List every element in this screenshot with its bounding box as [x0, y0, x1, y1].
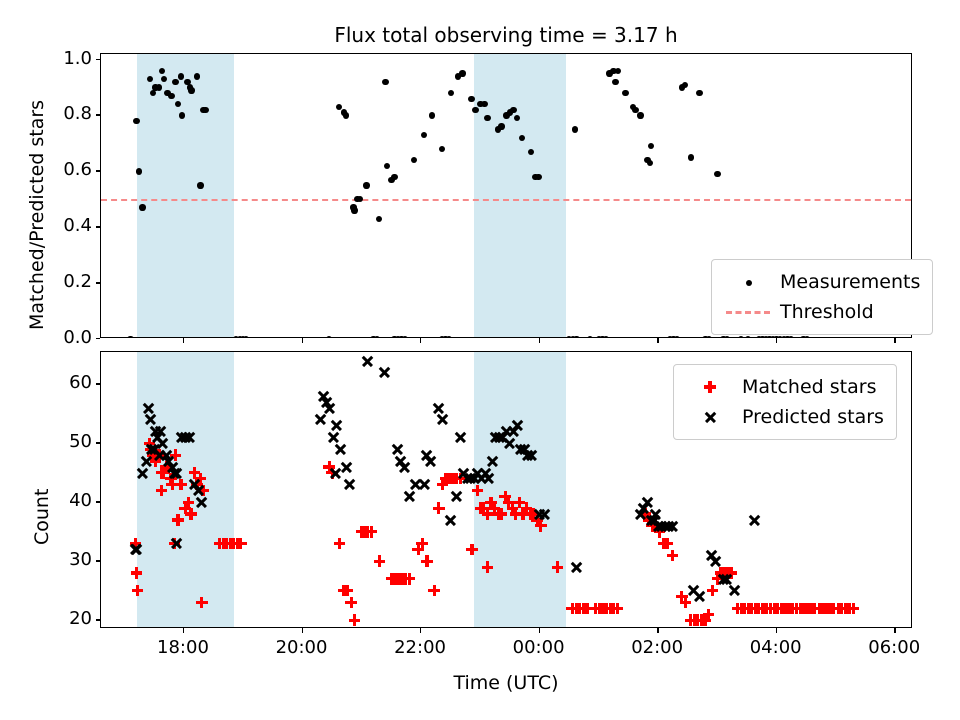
- measurement-point: [738, 336, 744, 338]
- legend-key-plus-marker: [684, 372, 736, 402]
- measurement-point: [696, 90, 702, 96]
- measurement-point: [172, 79, 178, 85]
- y-tick-mark: [96, 560, 101, 561]
- threshold-line: [101, 199, 911, 201]
- measurement-point: [202, 107, 208, 113]
- bottom-panel-legend: Matched starsPredicted stars: [673, 364, 897, 440]
- y-tick-label: 0.0: [36, 327, 92, 348]
- measurement-point: [194, 73, 200, 79]
- dot-marker-icon: [746, 280, 752, 286]
- x-tick-mark: [302, 338, 303, 343]
- legend-key-cross-marker: [684, 402, 736, 432]
- y-tick-mark: [96, 338, 101, 339]
- y-tick-mark: [96, 501, 101, 502]
- measurement-point: [343, 112, 349, 118]
- measurement-point: [788, 336, 794, 338]
- measurement-point: [133, 118, 139, 124]
- observing-block-2: [474, 352, 566, 627]
- top-panel-legend: MeasurementsThreshold: [711, 259, 933, 335]
- measurement-point: [439, 146, 445, 152]
- legend-label: Predicted stars: [736, 406, 884, 428]
- measurement-point: [472, 107, 478, 113]
- x-tick-mark: [776, 338, 777, 343]
- measurement-point: [804, 336, 810, 338]
- measurement-point: [374, 336, 380, 338]
- legend-item: Matched stars: [684, 372, 884, 402]
- measurement-point: [724, 336, 730, 338]
- x-tick-label: 18:00: [138, 637, 228, 658]
- y-tick-label: 0.4: [36, 215, 92, 236]
- measurement-point: [382, 79, 388, 85]
- measurement-point: [376, 216, 382, 222]
- measurement-point: [448, 90, 454, 96]
- measurement-point: [326, 336, 332, 338]
- x-tick-mark: [657, 338, 658, 343]
- measurement-point: [528, 149, 534, 155]
- x-tick-label: 20:00: [257, 637, 347, 658]
- measurement-point: [357, 196, 363, 202]
- y-tick-mark: [96, 226, 101, 227]
- measurement-point: [459, 70, 465, 76]
- y-tick-mark: [96, 442, 101, 443]
- measurement-point: [127, 336, 133, 338]
- x-tick-label: 06:00: [849, 637, 939, 658]
- measurement-point: [468, 96, 474, 102]
- measurement-point: [136, 168, 142, 174]
- measurement-point: [510, 107, 516, 113]
- x-tick-label: 02:00: [612, 637, 702, 658]
- measurement-point: [519, 135, 525, 141]
- measurement-point: [446, 336, 452, 338]
- x-tick-label: 22:00: [375, 637, 465, 658]
- measurement-point: [429, 112, 435, 118]
- y-tick-label: 50: [36, 431, 92, 452]
- x-tick-mark: [539, 628, 540, 633]
- measurement-point: [674, 336, 680, 338]
- measurement-point: [402, 336, 408, 338]
- legend-item: Threshold: [722, 297, 920, 327]
- x-tick-mark: [420, 338, 421, 343]
- y-tick-mark: [96, 619, 101, 620]
- measurement-point: [363, 182, 369, 188]
- measurement-point: [384, 163, 390, 169]
- measurement-point: [745, 336, 751, 338]
- y-tick-label: 60: [36, 372, 92, 393]
- y-tick-label: 20: [36, 608, 92, 629]
- measurement-point: [587, 336, 593, 338]
- y-tick-mark: [96, 114, 101, 115]
- x-tick-mark: [539, 338, 540, 343]
- observing-block-1: [137, 352, 235, 627]
- measurement-point: [484, 115, 490, 121]
- x-tick-mark: [183, 628, 184, 633]
- x-tick-label: 00:00: [494, 637, 584, 658]
- legend-item: Predicted stars: [684, 402, 884, 432]
- measurement-point: [615, 68, 621, 74]
- y-tick-label: 1.0: [36, 48, 92, 69]
- measurement-point: [178, 73, 184, 79]
- measurement-point: [156, 84, 162, 90]
- measurement-point: [535, 174, 541, 180]
- measurement-point: [612, 79, 618, 85]
- measurement-point: [572, 126, 578, 132]
- x-tick-mark: [420, 628, 421, 633]
- legend-item: Measurements: [722, 267, 920, 297]
- measurement-point: [391, 174, 397, 180]
- measurement-point: [688, 154, 694, 160]
- y-tick-mark: [96, 282, 101, 283]
- legend-label: Measurements: [774, 271, 920, 293]
- x-tick-mark: [894, 338, 895, 343]
- x-tick-mark: [183, 338, 184, 343]
- y-tick-label: 30: [36, 549, 92, 570]
- observing-block-2: [474, 54, 566, 337]
- page-title: Flux total observing time = 3.17 h: [100, 22, 912, 48]
- measurement-point: [351, 207, 357, 213]
- measurement-point: [682, 82, 688, 88]
- measurement-point: [648, 143, 654, 149]
- legend-key-threshold: [722, 297, 774, 327]
- measurement-point: [421, 132, 427, 138]
- measurement-point: [179, 112, 185, 118]
- measurement-point: [706, 336, 712, 338]
- measurement-point: [714, 171, 720, 177]
- y-tick-mark: [96, 170, 101, 171]
- dashed-line-marker-icon: [726, 311, 770, 314]
- legend-key-dot: [722, 267, 774, 297]
- y-tick-label: 0.8: [36, 103, 92, 124]
- measurement-point: [622, 90, 628, 96]
- measurement-point: [188, 87, 194, 93]
- y-tick-label: 0.2: [36, 271, 92, 292]
- x-tick-label: 04:00: [731, 637, 821, 658]
- y-tick-label: 0.6: [36, 159, 92, 180]
- measurement-point: [243, 336, 249, 338]
- x-axis-label: Time (UTC): [100, 672, 912, 694]
- x-tick-mark: [302, 628, 303, 633]
- x-tick-mark: [657, 628, 658, 633]
- y-tick-label: 40: [36, 490, 92, 511]
- legend-label: Threshold: [774, 301, 874, 323]
- measurement-point: [647, 160, 653, 166]
- measurement-point: [139, 204, 145, 210]
- measurement-point: [498, 123, 504, 129]
- legend-label: Matched stars: [736, 376, 876, 398]
- figure-canvas: Flux total observing time = 3.17 h Match…: [0, 0, 960, 720]
- measurement-point: [603, 336, 609, 338]
- measurement-point: [411, 157, 417, 163]
- measurement-point: [573, 336, 579, 338]
- measurement-point: [197, 182, 203, 188]
- x-tick-mark: [894, 628, 895, 633]
- y-tick-mark: [96, 383, 101, 384]
- observing-block-1: [137, 54, 235, 337]
- y-tick-mark: [96, 59, 101, 60]
- measurement-point: [637, 112, 643, 118]
- x-tick-mark: [776, 628, 777, 633]
